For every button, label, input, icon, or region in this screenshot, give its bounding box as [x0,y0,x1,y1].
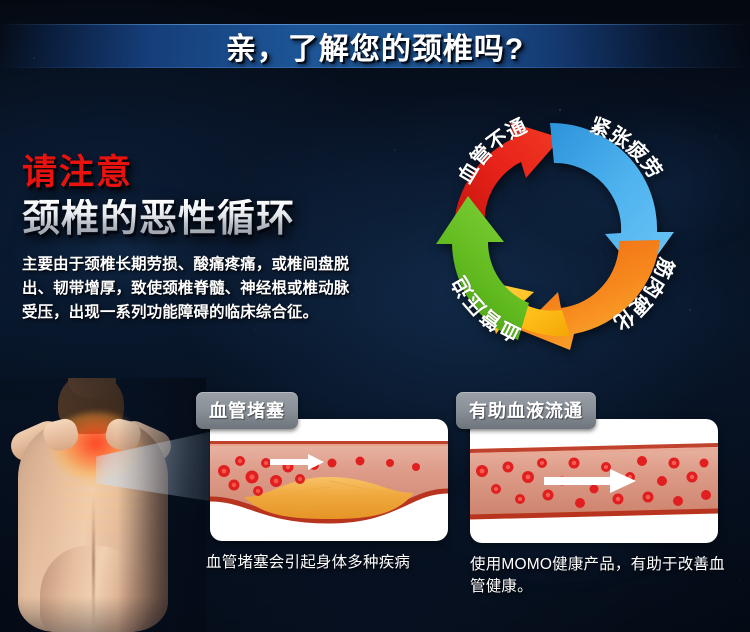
photo-edge-fade [0,378,206,632]
description-paragraph: 主要由于颈椎长期劳损、酸痛疼痛，或椎间盘脱出、韧带增厚，致使颈椎脊髓、神经根或椎… [22,253,352,325]
cycle-segment-compression: 血管压迫 [436,196,529,347]
intro-copy-block: 请注意 颈椎的恶性循环 主要由于颈椎长期劳损、酸痛疼痛，或椎间盘脱出、韧带增厚，… [22,155,364,324]
header-banner: 亲，了解您的颈椎吗? [0,24,750,68]
attention-heading: 请注意 [22,155,364,192]
page-title: 亲，了解您的颈椎吗? [0,24,750,68]
panel-blocked-vessel: 血管堵塞 [196,392,454,574]
status-badge: 血管堵塞 [196,392,298,429]
panel-flowing-vessel: 有助血液流通 [456,392,738,599]
status-badge: 有助血液流通 [456,392,596,429]
promo-page: 亲，了解您的颈椎吗? 请注意 颈椎的恶性循环 主要由于颈椎长期劳损、酸痛疼痛，或… [0,0,750,632]
healthy-blood-vessel-illustration [470,419,718,543]
vicious-cycle-diagram: 血管不通 紧张疲劳 筋肉硬化 [398,82,718,382]
clogged-blood-vessel-illustration [210,419,448,541]
panel-caption: 使用MOMO健康产品，有助于改善血管健康。 [470,554,736,599]
woman-neck-pain-photo [0,378,206,632]
panel-caption: 血管堵塞会引起身体多种疾病 [206,552,456,574]
subject-heading: 颈椎的恶性循环 [22,199,364,240]
